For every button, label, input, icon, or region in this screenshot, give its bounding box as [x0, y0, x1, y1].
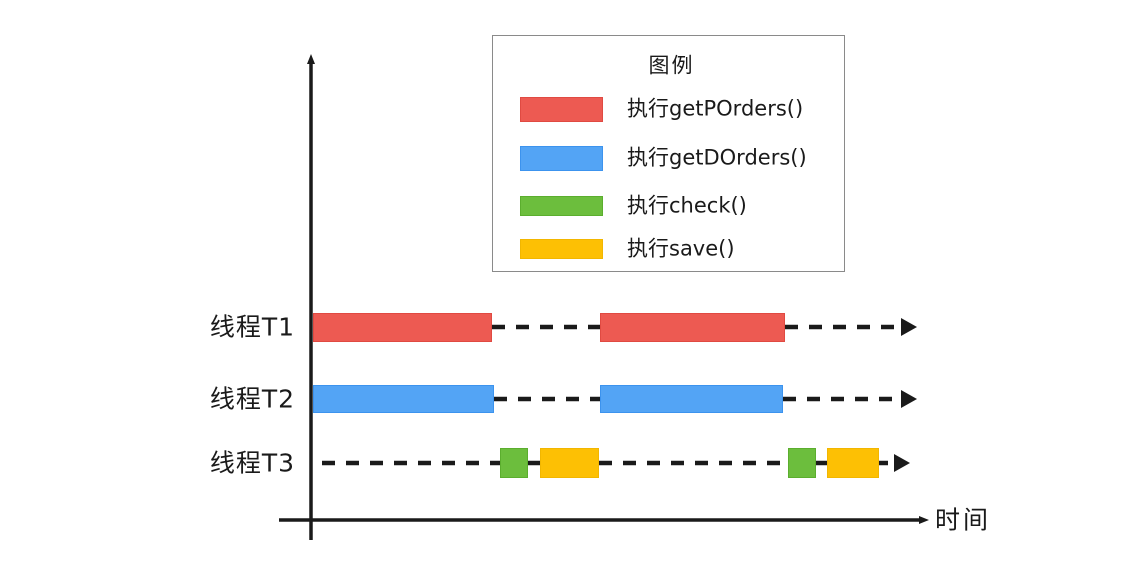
thread-2-timeline-arrowhead	[901, 390, 917, 408]
thread-2-task-bar-2	[600, 385, 783, 413]
thread-label-t2: 线程T2	[185, 387, 295, 412]
thread-1-task-bar-2	[600, 313, 785, 342]
legend-swatch-3	[520, 196, 603, 216]
thread-1-timeline-arrowhead	[901, 318, 917, 336]
thread-3-timeline-arrowhead	[894, 454, 910, 472]
legend-label-2: 执行getDOrders()	[627, 148, 807, 169]
legend-swatch-1	[520, 97, 603, 122]
legend-title: 图例	[649, 56, 695, 77]
thread-2-task-bar-0	[313, 385, 494, 413]
legend-label-3: 执行check()	[627, 196, 747, 217]
legend-swatch-4	[520, 239, 603, 259]
legend-label-4: 执行save()	[627, 239, 735, 260]
thread-label-t3: 线程T3	[185, 451, 295, 476]
legend-swatch-2	[520, 146, 603, 171]
thread-3-task-bar-7	[827, 448, 879, 478]
diagram-canvas: 线程T1线程T2线程T3 时间 图例 执行getPOrders()执行getDO…	[0, 0, 1142, 567]
thread-3-task-bar-5	[788, 448, 816, 478]
time-axis-label: 时间	[935, 508, 991, 533]
legend-label-1: 执行getPOrders()	[627, 99, 803, 120]
legend-panel: 图例 执行getPOrders()执行getDOrders()执行check()…	[492, 35, 845, 272]
thread-3-task-bar-1	[500, 448, 528, 478]
thread-3-task-bar-3	[540, 448, 599, 478]
thread-1-task-bar-0	[313, 313, 492, 342]
thread-label-t1: 线程T1	[185, 315, 295, 340]
